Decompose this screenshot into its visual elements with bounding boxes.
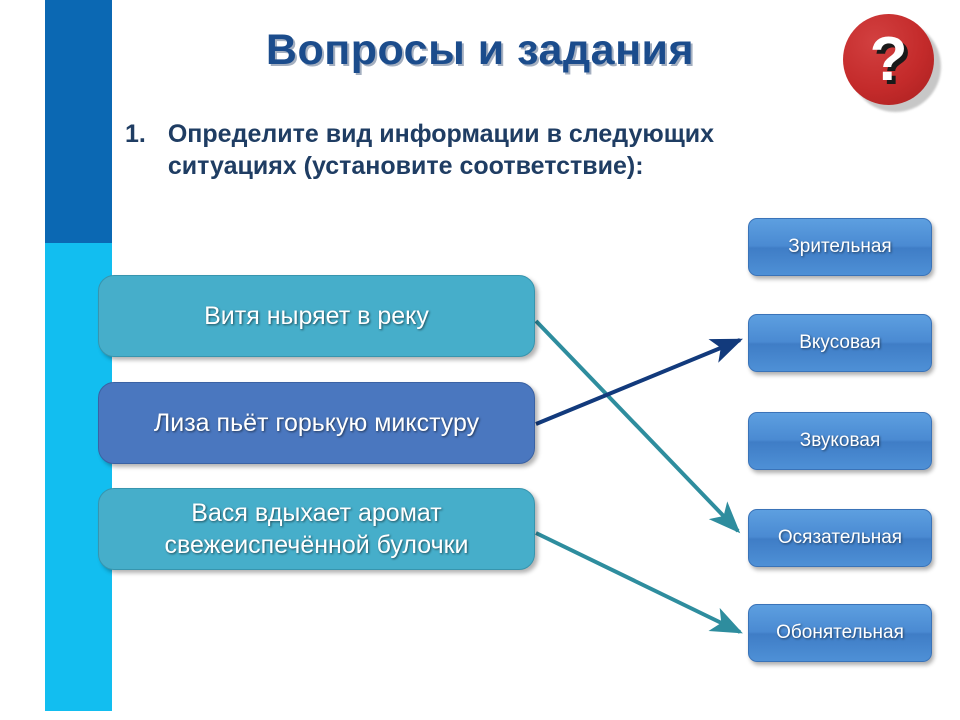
situation-box[interactable]: Вася вдыхает аромат свежеиспечённой було…	[98, 488, 535, 570]
left-accent-strip-top	[45, 0, 112, 243]
answer-box-obonyatelnaya[interactable]: Обонятельная	[748, 604, 932, 662]
page-title: Вопросы и задания	[150, 26, 810, 75]
question-mark-icon: ?	[843, 14, 941, 112]
connector-liza-to-vkusovaya	[536, 340, 740, 424]
situation-box[interactable]: Витя ныряет в реку	[98, 275, 535, 357]
task-number: 1.	[125, 118, 146, 182]
answer-box-vkusovaya[interactable]: Вкусовая	[748, 314, 932, 372]
task-item: 1. Определите вид информации в следующих…	[125, 118, 765, 182]
badge-glyph: ?	[843, 14, 934, 105]
answer-box-osyazatelnaya[interactable]: Осязательная	[748, 509, 932, 567]
answer-box-zritelnaya[interactable]: Зрительная	[748, 218, 932, 276]
connector-vasya-to-obonyatelnaya	[536, 533, 740, 632]
situation-box[interactable]: Лиза пьёт горькую микстуру	[98, 382, 535, 464]
slide-canvas: Вопросы и задания ? 1. Определите вид ин…	[0, 0, 960, 720]
answer-box-zvukovaya[interactable]: Звуковая	[748, 412, 932, 470]
connector-vitya-to-osyazatelnaya	[536, 321, 738, 531]
task-text: Определите вид информации в следующих си…	[168, 118, 765, 182]
